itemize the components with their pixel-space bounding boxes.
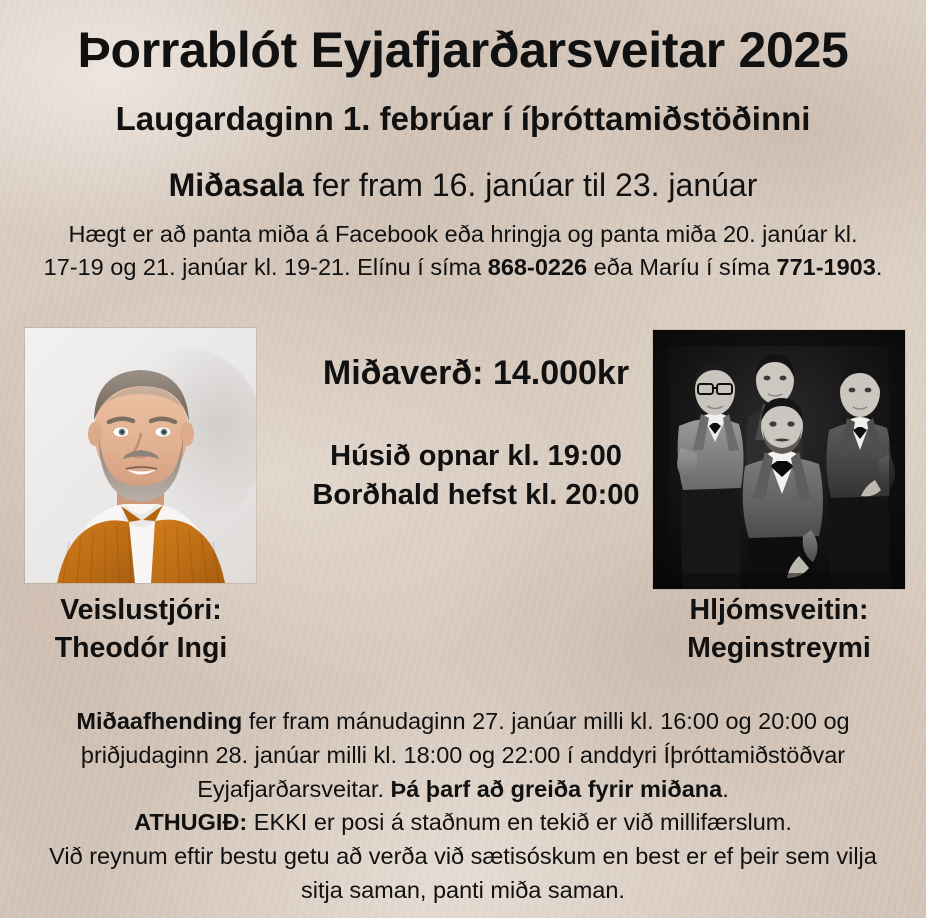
order-instructions-line-2: 17-19 og 21. janúar kl. 19-21. Elínu í s… (6, 251, 920, 284)
order-line2-text-a: 17-19 og 21. janúar kl. 19-21. Elínu í s… (44, 254, 488, 280)
ticket-sales-headline-bold: Miðasala (169, 167, 304, 203)
dinner-start-time: Borðhald hefst kl. 20:00 (276, 476, 676, 515)
notice-text: EKKI er posi á staðnum en tekið er við m… (247, 809, 792, 835)
pickup-line-2: þriðjudaginn 28. janúar milli kl. 18:00 … (10, 739, 916, 773)
poster-subtitle: Laugardaginn 1. febrúar í íþróttamiðstöð… (0, 101, 926, 137)
order-line2-text-c: . (876, 254, 883, 280)
ticket-sales-headline-rest: fer fram 16. janúar til 23. janúar (304, 167, 758, 203)
pickup-line-1: Miðaafhending fer fram mánudaginn 27. ja… (10, 705, 916, 739)
phone-number-elin: 868-0226 (488, 254, 587, 280)
poster-title: Þorrablót Eyjafjarðarsveitar 2025 (0, 24, 926, 77)
seating-line-1: Við reynum eftir bestu getu að verða við… (10, 840, 916, 874)
notice-line: ATHUGIÐ: EKKI er posi á staðnum en tekið… (10, 806, 916, 840)
payment-required-note: Þá þarf að greiða fyrir miðana (391, 776, 723, 802)
band-photo-illustration (653, 330, 905, 589)
host-caption: Veislustjóri: Theodór Ingi (10, 592, 272, 668)
band-photo (653, 330, 905, 589)
event-times: Húsið opnar kl. 19:00 Borðhald hefst kl.… (276, 437, 676, 514)
host-photo-illustration (25, 328, 256, 583)
pickup-line-3: Eyjafjarðarsveitar. Þá þarf að greiða fy… (10, 773, 916, 807)
seating-line-2: sitja saman, panti miða saman. (10, 874, 916, 908)
order-instructions: Hægt er að panta miða á Facebook eða hri… (6, 218, 920, 285)
band-caption: Hljómsveitin: Meginstreymi (648, 592, 910, 668)
host-role-label: Veislustjóri: (10, 592, 272, 630)
pickup-line-1-rest: fer fram mánudaginn 27. janúar milli kl.… (242, 708, 849, 734)
notice-label: ATHUGIÐ: (134, 809, 247, 835)
pickup-line-3-a: Eyjafjarðarsveitar. (197, 776, 390, 802)
order-line2-text-b: eða Maríu í síma (587, 254, 776, 280)
doors-open-time: Húsið opnar kl. 19:00 (276, 437, 676, 476)
band-role-label: Hljómsveitin: (648, 592, 910, 630)
band-name: Meginstreymi (648, 630, 910, 668)
order-instructions-line-1: Hægt er að panta miða á Facebook eða hri… (6, 218, 920, 251)
ticket-price: Miðaverð: 14.000kr (286, 354, 666, 393)
pickup-line-3-b: . (722, 776, 729, 802)
host-name: Theodór Ingi (10, 630, 272, 668)
phone-number-maria: 771-1903 (777, 254, 876, 280)
ticket-sales-headline: Miðasala fer fram 16. janúar til 23. jan… (0, 167, 926, 204)
poster-canvas: Þorrablót Eyjafjarðarsveitar 2025 Laugar… (0, 0, 926, 918)
pickup-information: Miðaafhending fer fram mánudaginn 27. ja… (10, 705, 916, 908)
pickup-lead-bold: Miðaafhending (76, 708, 242, 734)
host-photo (25, 328, 256, 583)
